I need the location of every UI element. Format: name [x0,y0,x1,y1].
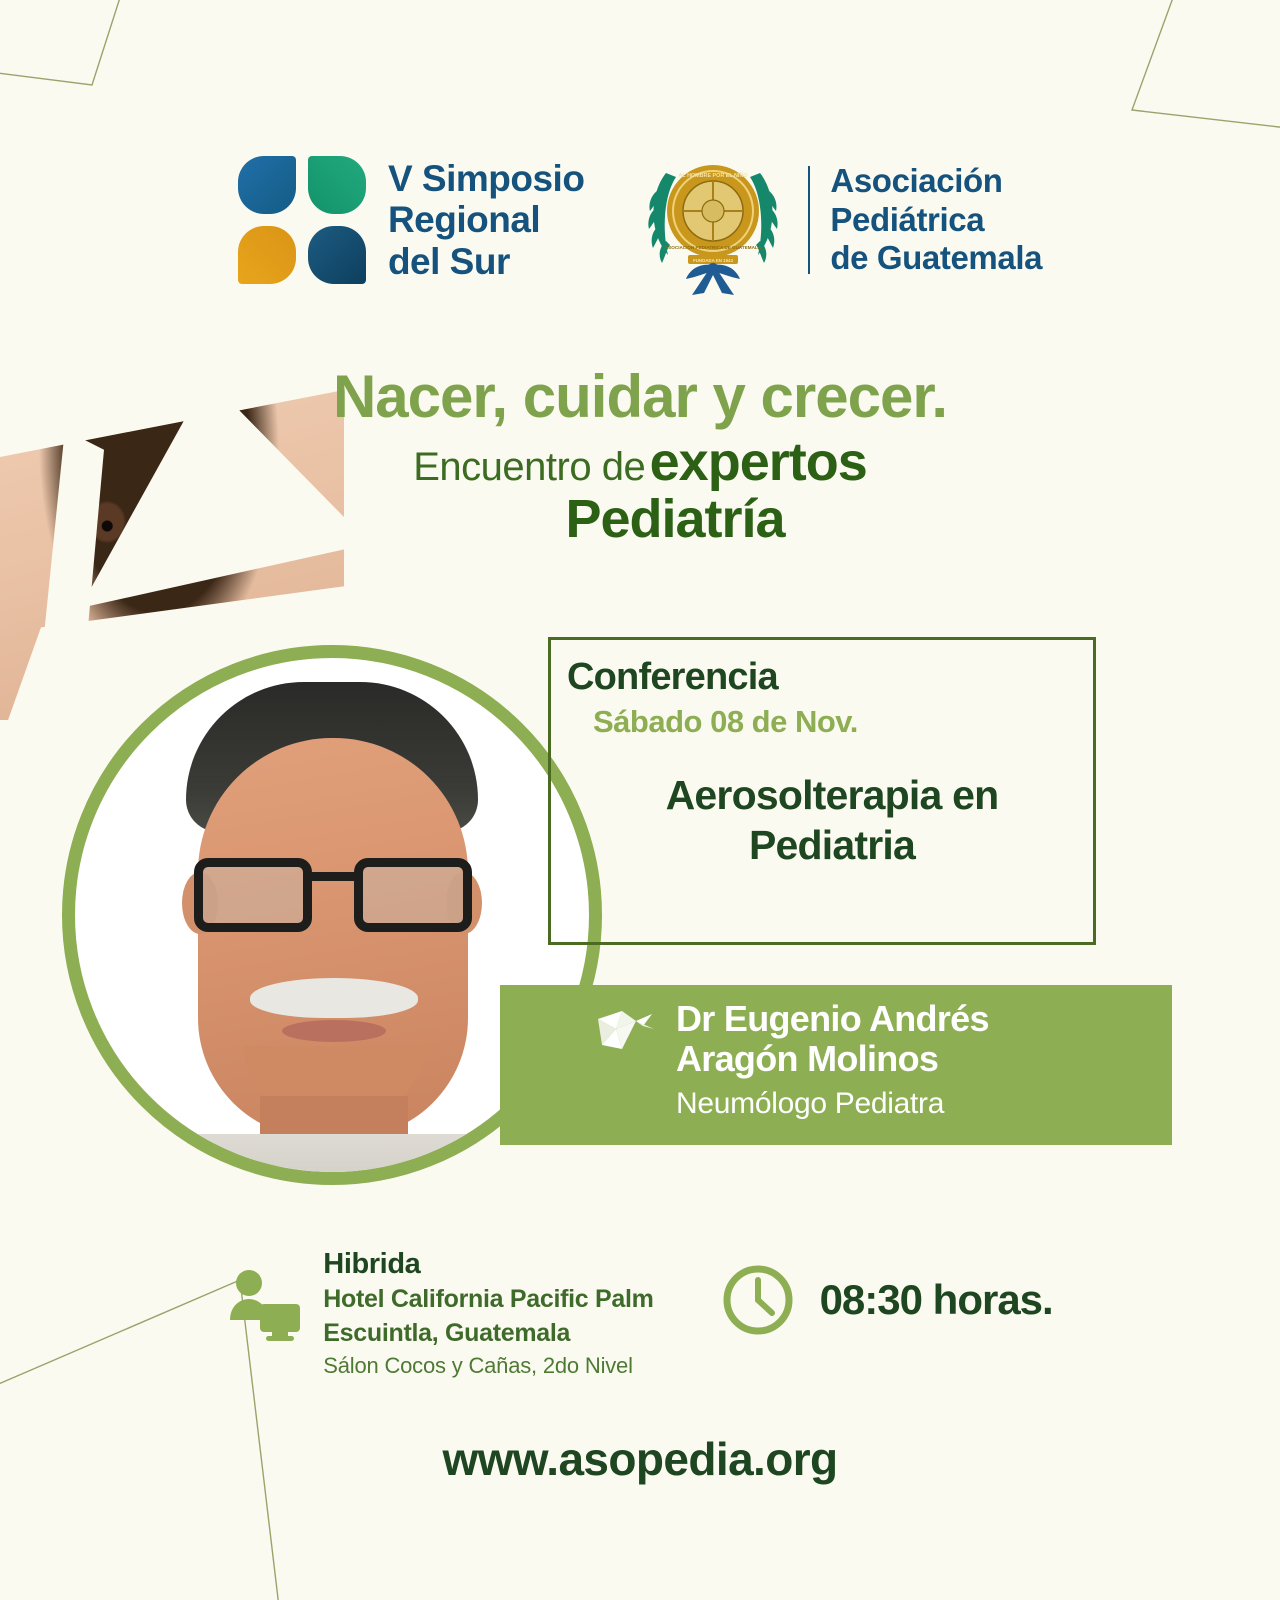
simposio-line-3: del Sur [388,241,584,282]
asociacion-line-1: Asociación [830,162,1042,201]
venue-place-line-2: Escuintla, Guatemala [323,1317,653,1349]
asociacion-pediatrica-guatemala-seal: AL HOMBRE POR EL NIÑO ASOCIACION PEDIATR… [638,145,788,295]
portrait-mouth [282,1020,386,1042]
decorative-polygon-top-left [0,0,260,100]
venue-time-row: Hibrida Hotel California Pacific Palm Es… [0,1248,1280,1379]
venue-block: Hibrida Hotel California Pacific Palm Es… [227,1248,653,1379]
logo-petal-teal [308,156,366,214]
simposio-regional-del-sur-logo [238,156,366,284]
title-subline: Encuentro de expertos [0,435,1280,489]
title-pediatria: Pediatría [70,489,1280,549]
asociacion-title: Asociación Pediátrica de Guatemala [830,162,1042,279]
logo-petal-gold [238,226,296,284]
website-url[interactable]: www.asopedia.org [0,1432,1280,1486]
portrait-glasses [194,858,472,934]
simposio-line-2: Regional [388,199,584,240]
speaker-photo [152,682,512,1182]
time-value: 08:30 horas. [820,1276,1053,1324]
conference-date: Sábado 08 de Nov. [593,704,858,740]
svg-text:FUNDADA EN 1943: FUNDADA EN 1943 [693,258,733,263]
speaker-names: Dr Eugenio Andrés Aragón Molinos Neumólo… [676,999,989,1123]
poster-title: Nacer, cuidar y crecer. Encuentro de exp… [0,365,1280,549]
decorative-polygon-top-right [1060,0,1280,135]
conference-label: Conferencia [567,656,778,699]
simposio-title: V Simposio Regional del Sur [388,158,584,282]
speaker-banner: Dr Eugenio Andrés Aragón Molinos Neumólo… [500,985,1172,1145]
speaker-banner-content: Dr Eugenio Andrés Aragón Molinos Neumólo… [596,999,1162,1123]
speaker-role: Neumólogo Pediatra [676,1084,989,1123]
glasses-lens-right [354,858,472,932]
clock-icon [720,1262,796,1338]
hybrid-person-computer-icon [227,1266,303,1344]
poster-header: V Simposio Regional del Sur [0,130,1280,310]
title-encuentro: Encuentro de [413,445,645,489]
venue-room: Sálon Cocos y Cañas, 2do Nivel [323,1353,653,1379]
svg-text:AL HOMBRE POR EL NIÑO: AL HOMBRE POR EL NIÑO [679,172,748,179]
speaker-name-line-1: Dr Eugenio Andrés [676,999,989,1039]
logo-petal-navy [308,226,366,284]
logo-divider [808,166,810,274]
asociacion-line-2: Pediátrica [830,201,1042,240]
simposio-logo-block: V Simposio Regional del Sur [238,156,584,284]
time-block: 08:30 horas. [720,1262,1053,1338]
asociacion-line-3: de Guatemala [830,239,1042,278]
venue-mode: Hibrida [323,1248,653,1281]
svg-text:ASOCIACION PEDIATRICA DE GUATE: ASOCIACION PEDIATRICA DE GUATEMALA [665,245,762,250]
portrait-shirt [142,1134,522,1185]
title-expertos: expertos [650,432,867,492]
event-poster: V Simposio Regional del Sur [0,0,1280,1600]
asociacion-logo-block: AL HOMBRE POR EL NIÑO ASOCIACION PEDIATR… [638,145,1042,295]
origami-dove-icon [596,1005,658,1057]
speaker-name-line-2: Aragón Molinos [676,1039,989,1079]
simposio-line-1: V Simposio [388,158,584,199]
conference-details-box: Conferencia Sábado 08 de Nov. Aerosolter… [548,637,1096,945]
portrait-moustache [250,978,418,1018]
venue-text: Hibrida Hotel California Pacific Palm Es… [323,1248,653,1379]
glasses-lens-left [194,858,312,932]
venue-place-line-1: Hotel California Pacific Palm [323,1283,653,1315]
glasses-bridge [312,872,356,881]
logo-petal-blue [238,156,296,214]
title-tagline: Nacer, cuidar y crecer. [0,365,1280,429]
conference-topic: Aerosolterapia en Pediatria [585,770,1079,870]
seal-ribbon [686,263,740,295]
